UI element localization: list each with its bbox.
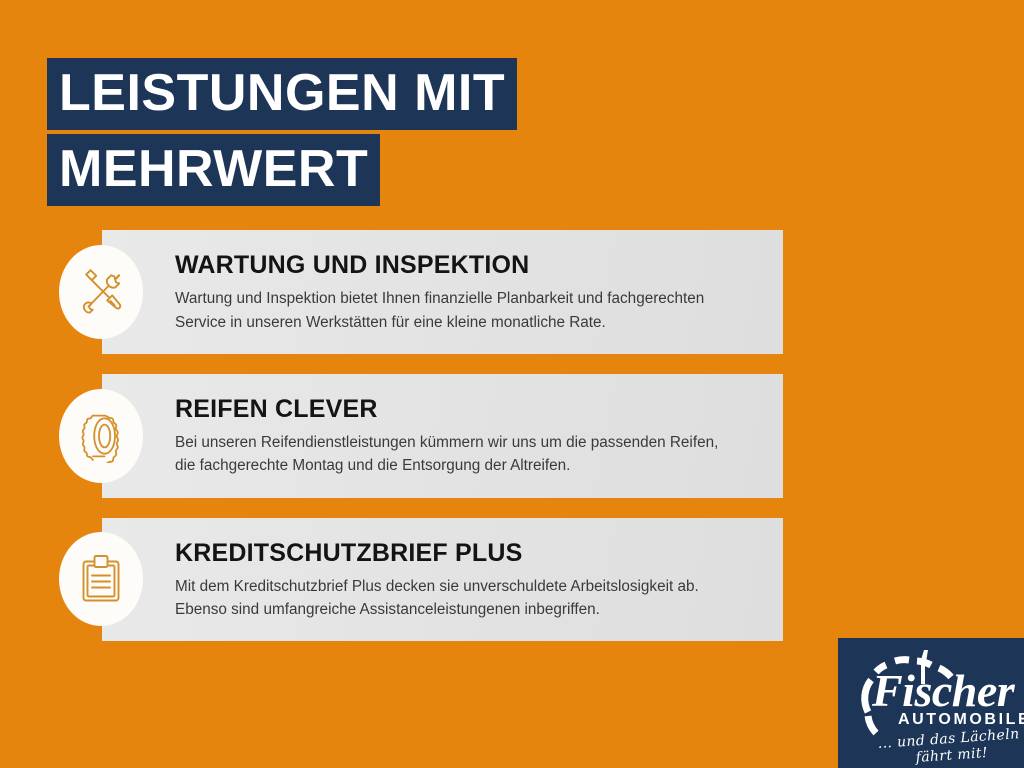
slide-canvas: LEISTUNGEN MIT MEHRWERT WARTUNG UND IN xyxy=(0,0,1024,768)
page-title-line-2: MEHRWERT xyxy=(47,134,380,206)
service-card-body: Bei unseren Reifendienstleistungen kümme… xyxy=(175,431,755,478)
page-title: LEISTUNGEN MIT MEHRWERT xyxy=(47,58,517,206)
service-card-kreditschutzbrief-plus[interactable]: KREDITSCHUTZBRIEF PLUS Mit dem Kreditsch… xyxy=(102,518,783,642)
service-card-body-line-2: Service in unseren Werkstätten für eine … xyxy=(175,311,755,334)
service-card-list: WARTUNG UND INSPEKTION Wartung und Inspe… xyxy=(102,230,783,641)
clipboard-icon xyxy=(59,532,143,626)
service-card-body-line-1: Bei unseren Reifendienstleistungen kümme… xyxy=(175,431,755,454)
svg-text:AUTOMOBILE: AUTOMOBILE xyxy=(898,711,1024,728)
service-card-wartung-und-inspektion[interactable]: WARTUNG UND INSPEKTION Wartung und Inspe… xyxy=(102,230,783,354)
service-card-body-line-1: Wartung und Inspektion bietet Ihnen fina… xyxy=(175,287,755,310)
tire-icon xyxy=(59,389,143,483)
service-card-body-line-2: die fachgerechte Montag und die Entsorgu… xyxy=(175,454,755,477)
service-card-body: Mit dem Kreditschutzbrief Plus decken si… xyxy=(175,575,755,622)
service-card-title: KREDITSCHUTZBRIEF PLUS xyxy=(175,540,755,566)
fischer-automobile-logo: Fischer AUTOMOBILE ... und das Lächeln f… xyxy=(838,638,1024,768)
service-card-body-line-1: Mit dem Kreditschutzbrief Plus decken si… xyxy=(175,575,755,598)
page-title-line-1: LEISTUNGEN MIT xyxy=(47,58,517,130)
service-card-title: WARTUNG UND INSPEKTION xyxy=(175,252,755,278)
service-card-title: REIFEN CLEVER xyxy=(175,396,755,422)
svg-text:Fischer: Fischer xyxy=(871,665,1016,716)
service-card-body-line-2: Ebenso sind umfangreiche Assistanceleist… xyxy=(175,598,755,621)
service-card-body: Wartung und Inspektion bietet Ihnen fina… xyxy=(175,287,755,334)
service-card-reifen-clever[interactable]: REIFEN CLEVER Bei unseren Reifendienstle… xyxy=(102,374,783,498)
wrench-screwdriver-icon xyxy=(59,245,143,339)
